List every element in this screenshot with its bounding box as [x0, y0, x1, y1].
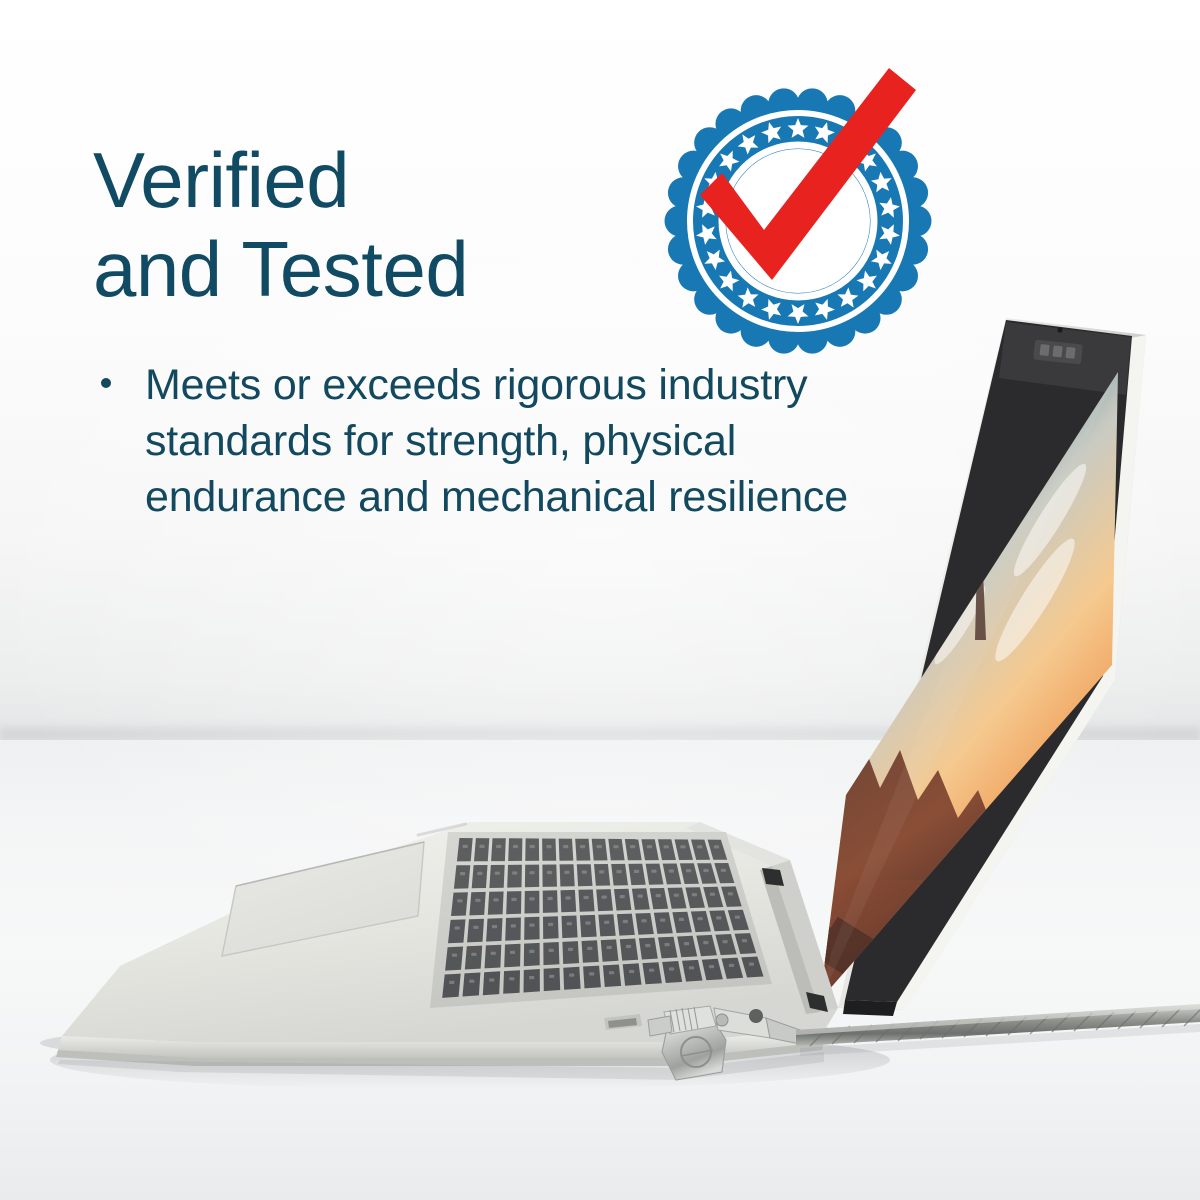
- verified-seal-icon: [648, 64, 948, 364]
- background-floor: [0, 740, 1200, 1200]
- feature-bullet-list: Meets or exceeds rigorous industry stand…: [93, 358, 853, 526]
- promo-slide: Verified and Tested Meets or exceeds rig…: [0, 0, 1200, 1200]
- list-item-label: Meets or exceeds rigorous industry stand…: [145, 361, 848, 521]
- list-item: Meets or exceeds rigorous industry stand…: [93, 358, 853, 526]
- page-title: Verified and Tested: [93, 136, 713, 314]
- bullet-dot-icon: [101, 378, 111, 388]
